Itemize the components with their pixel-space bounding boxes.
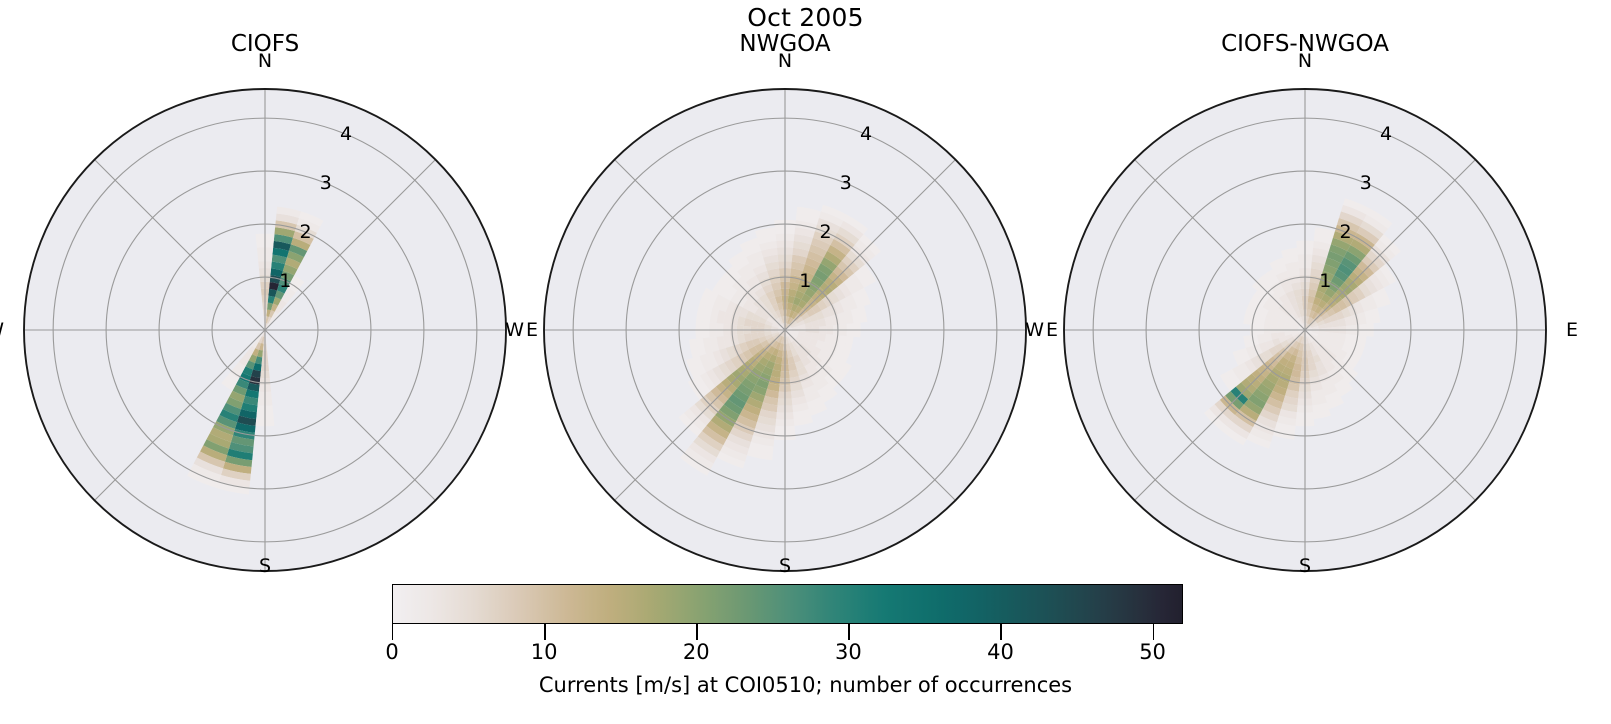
direction-label-west: W <box>494 320 524 340</box>
radial-tick-label: 1 <box>1319 271 1331 291</box>
colorbar-tick-labels: 01020304050 <box>392 640 1183 666</box>
colorbar-ticks <box>392 624 1183 640</box>
radial-tick-label: 4 <box>860 124 872 144</box>
colorbar-tick-label: 10 <box>531 640 558 664</box>
colorbar[interactable] <box>392 584 1183 624</box>
colorbar-tick-label: 50 <box>1139 640 1166 664</box>
colorbar-tick-mark <box>1153 624 1154 640</box>
direction-label-north: N <box>530 51 1040 71</box>
direction-label-south: S <box>1050 556 1560 576</box>
direction-label-north: N <box>1050 51 1560 71</box>
polar-panel-nwgoa: NWGOA N S W E 1234 <box>530 75 1040 585</box>
colorbar-tick-mark <box>392 624 393 640</box>
colorbar-tick-label: 40 <box>987 640 1014 664</box>
polar-panel-ciofs-nwgoa: CIOFS-NWGOA N S W E 1234 <box>1050 75 1560 585</box>
radial-tick-label: 3 <box>1360 173 1372 193</box>
radial-tick-label: 2 <box>819 222 831 242</box>
radial-tick-label: 4 <box>340 124 352 144</box>
direction-label-east: E <box>1566 320 1596 340</box>
radial-tick-label: 3 <box>840 173 852 193</box>
direction-label-south: S <box>530 556 1040 576</box>
direction-label-west: W <box>0 320 4 340</box>
figure-root: Oct 2005 CIOFS N S W E 1234 NWGOA N S W … <box>0 0 1611 724</box>
radial-tick-label: 2 <box>1339 222 1351 242</box>
radial-tick-label: 3 <box>320 173 332 193</box>
colorbar-gradient <box>392 584 1183 624</box>
radial-tick-label: 2 <box>299 222 311 242</box>
radial-tick-label: 4 <box>1380 124 1392 144</box>
current-rose-chart-ciofs-nwgoa[interactable] <box>1050 75 1560 585</box>
colorbar-tick-label: 20 <box>683 640 710 664</box>
figure-suptitle: Oct 2005 <box>0 4 1611 32</box>
colorbar-tick-mark <box>696 624 697 640</box>
colorbar-tick-label: 0 <box>385 640 398 664</box>
colorbar-tick-mark <box>544 624 545 640</box>
colorbar-tick-label: 30 <box>835 640 862 664</box>
colorbar-tick-mark <box>1000 624 1001 640</box>
direction-label-south: S <box>10 556 520 576</box>
colorbar-caption: Currents [m/s] at COI0510; number of occ… <box>0 672 1611 698</box>
current-rose-chart-ciofs[interactable] <box>10 75 520 585</box>
colorbar-tick-mark <box>848 624 849 640</box>
polar-panel-ciofs: CIOFS N S W E 1234 <box>10 75 520 585</box>
radial-tick-label: 1 <box>279 271 291 291</box>
direction-label-west: W <box>1014 320 1044 340</box>
direction-label-north: N <box>10 51 520 71</box>
current-rose-chart-nwgoa[interactable] <box>530 75 1040 585</box>
radial-tick-label: 1 <box>799 271 811 291</box>
